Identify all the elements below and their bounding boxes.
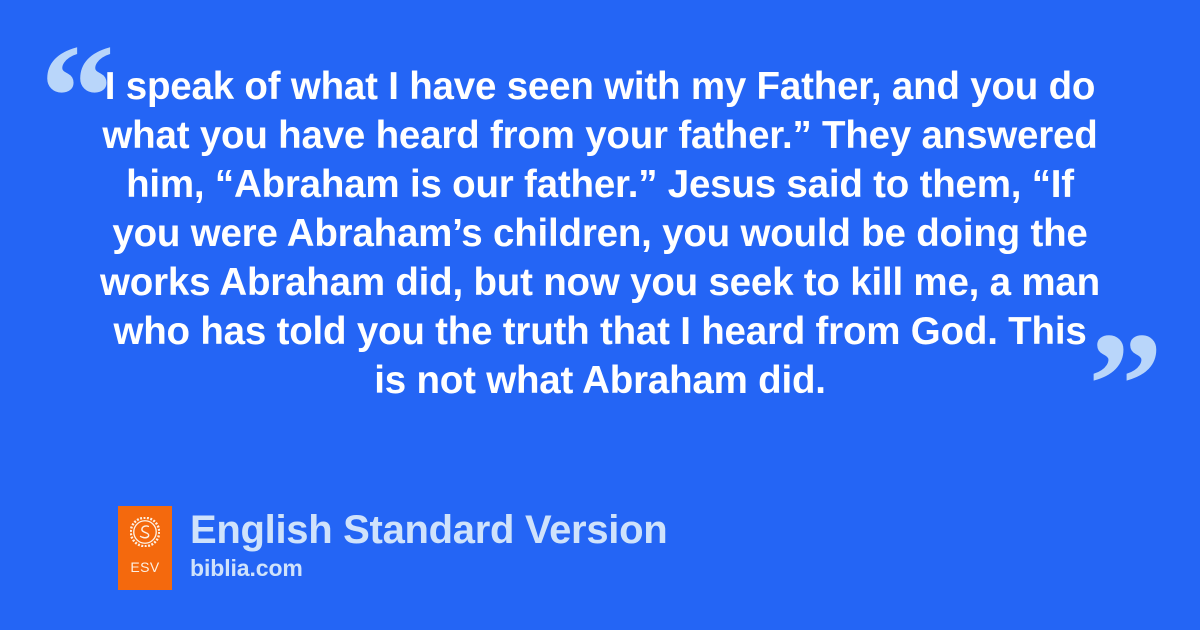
bible-version-name: English Standard Version (190, 508, 667, 553)
quote-block: “ I speak of what I have seen with my Fa… (0, 0, 1200, 440)
esv-seal-icon (130, 517, 160, 547)
closing-quote-mark-icon: ” (1088, 310, 1163, 460)
quote-text: I speak of what I have seen with my Fath… (100, 62, 1100, 405)
site-url-label: biblia.com (190, 555, 667, 582)
attribution-text-group: English Standard Version biblia.com (190, 506, 667, 582)
esv-logo: ESV (118, 506, 172, 590)
esv-abbreviation-label: ESV (130, 560, 159, 574)
bible-verse-quote-card: “ I speak of what I have seen with my Fa… (0, 0, 1200, 630)
attribution-footer: ESV English Standard Version biblia.com (118, 506, 667, 590)
